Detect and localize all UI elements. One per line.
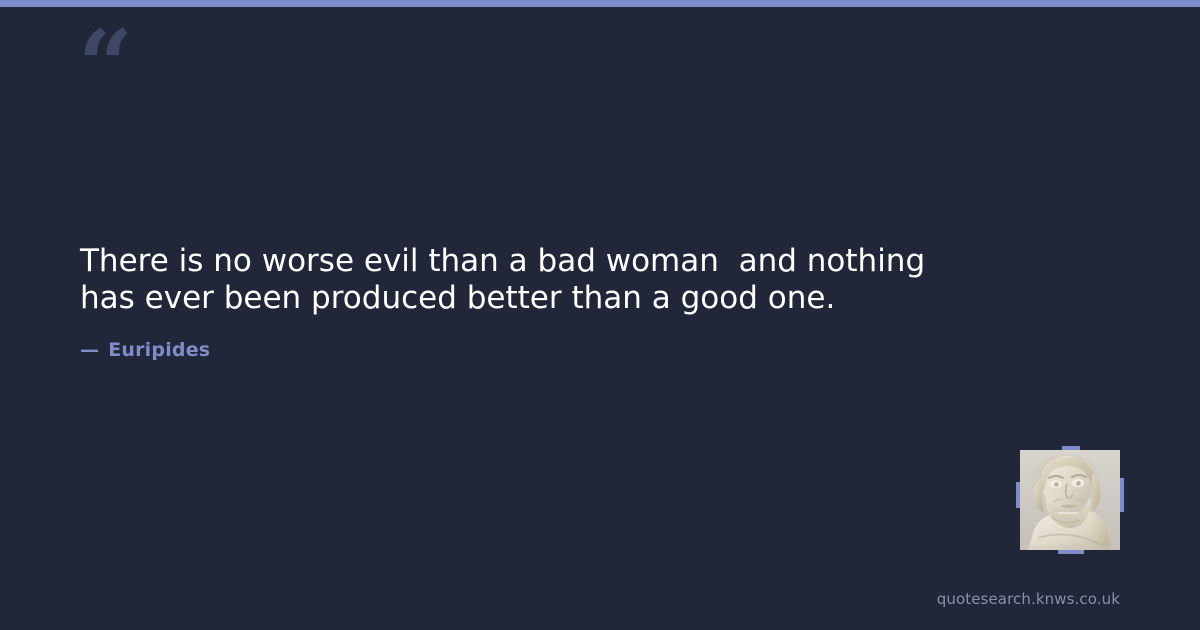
quote-text: There is no worse evil than a bad woman … bbox=[80, 243, 980, 317]
portrait-image bbox=[1020, 450, 1120, 550]
quote-attribution: —Euripides bbox=[80, 339, 210, 361]
quote-card: “ There is no worse evil than a bad woma… bbox=[0, 0, 1200, 630]
portrait-tick-bottom bbox=[1058, 550, 1084, 554]
author-portrait bbox=[1020, 450, 1120, 550]
top-accent-bar bbox=[0, 0, 1200, 7]
portrait-tick-right bbox=[1120, 478, 1124, 512]
attribution-dash: — bbox=[80, 339, 99, 361]
attribution-author: Euripides bbox=[108, 339, 210, 361]
site-url-label: quotesearch.knws.co.uk bbox=[937, 590, 1120, 608]
open-quote-icon: “ bbox=[78, 18, 131, 114]
